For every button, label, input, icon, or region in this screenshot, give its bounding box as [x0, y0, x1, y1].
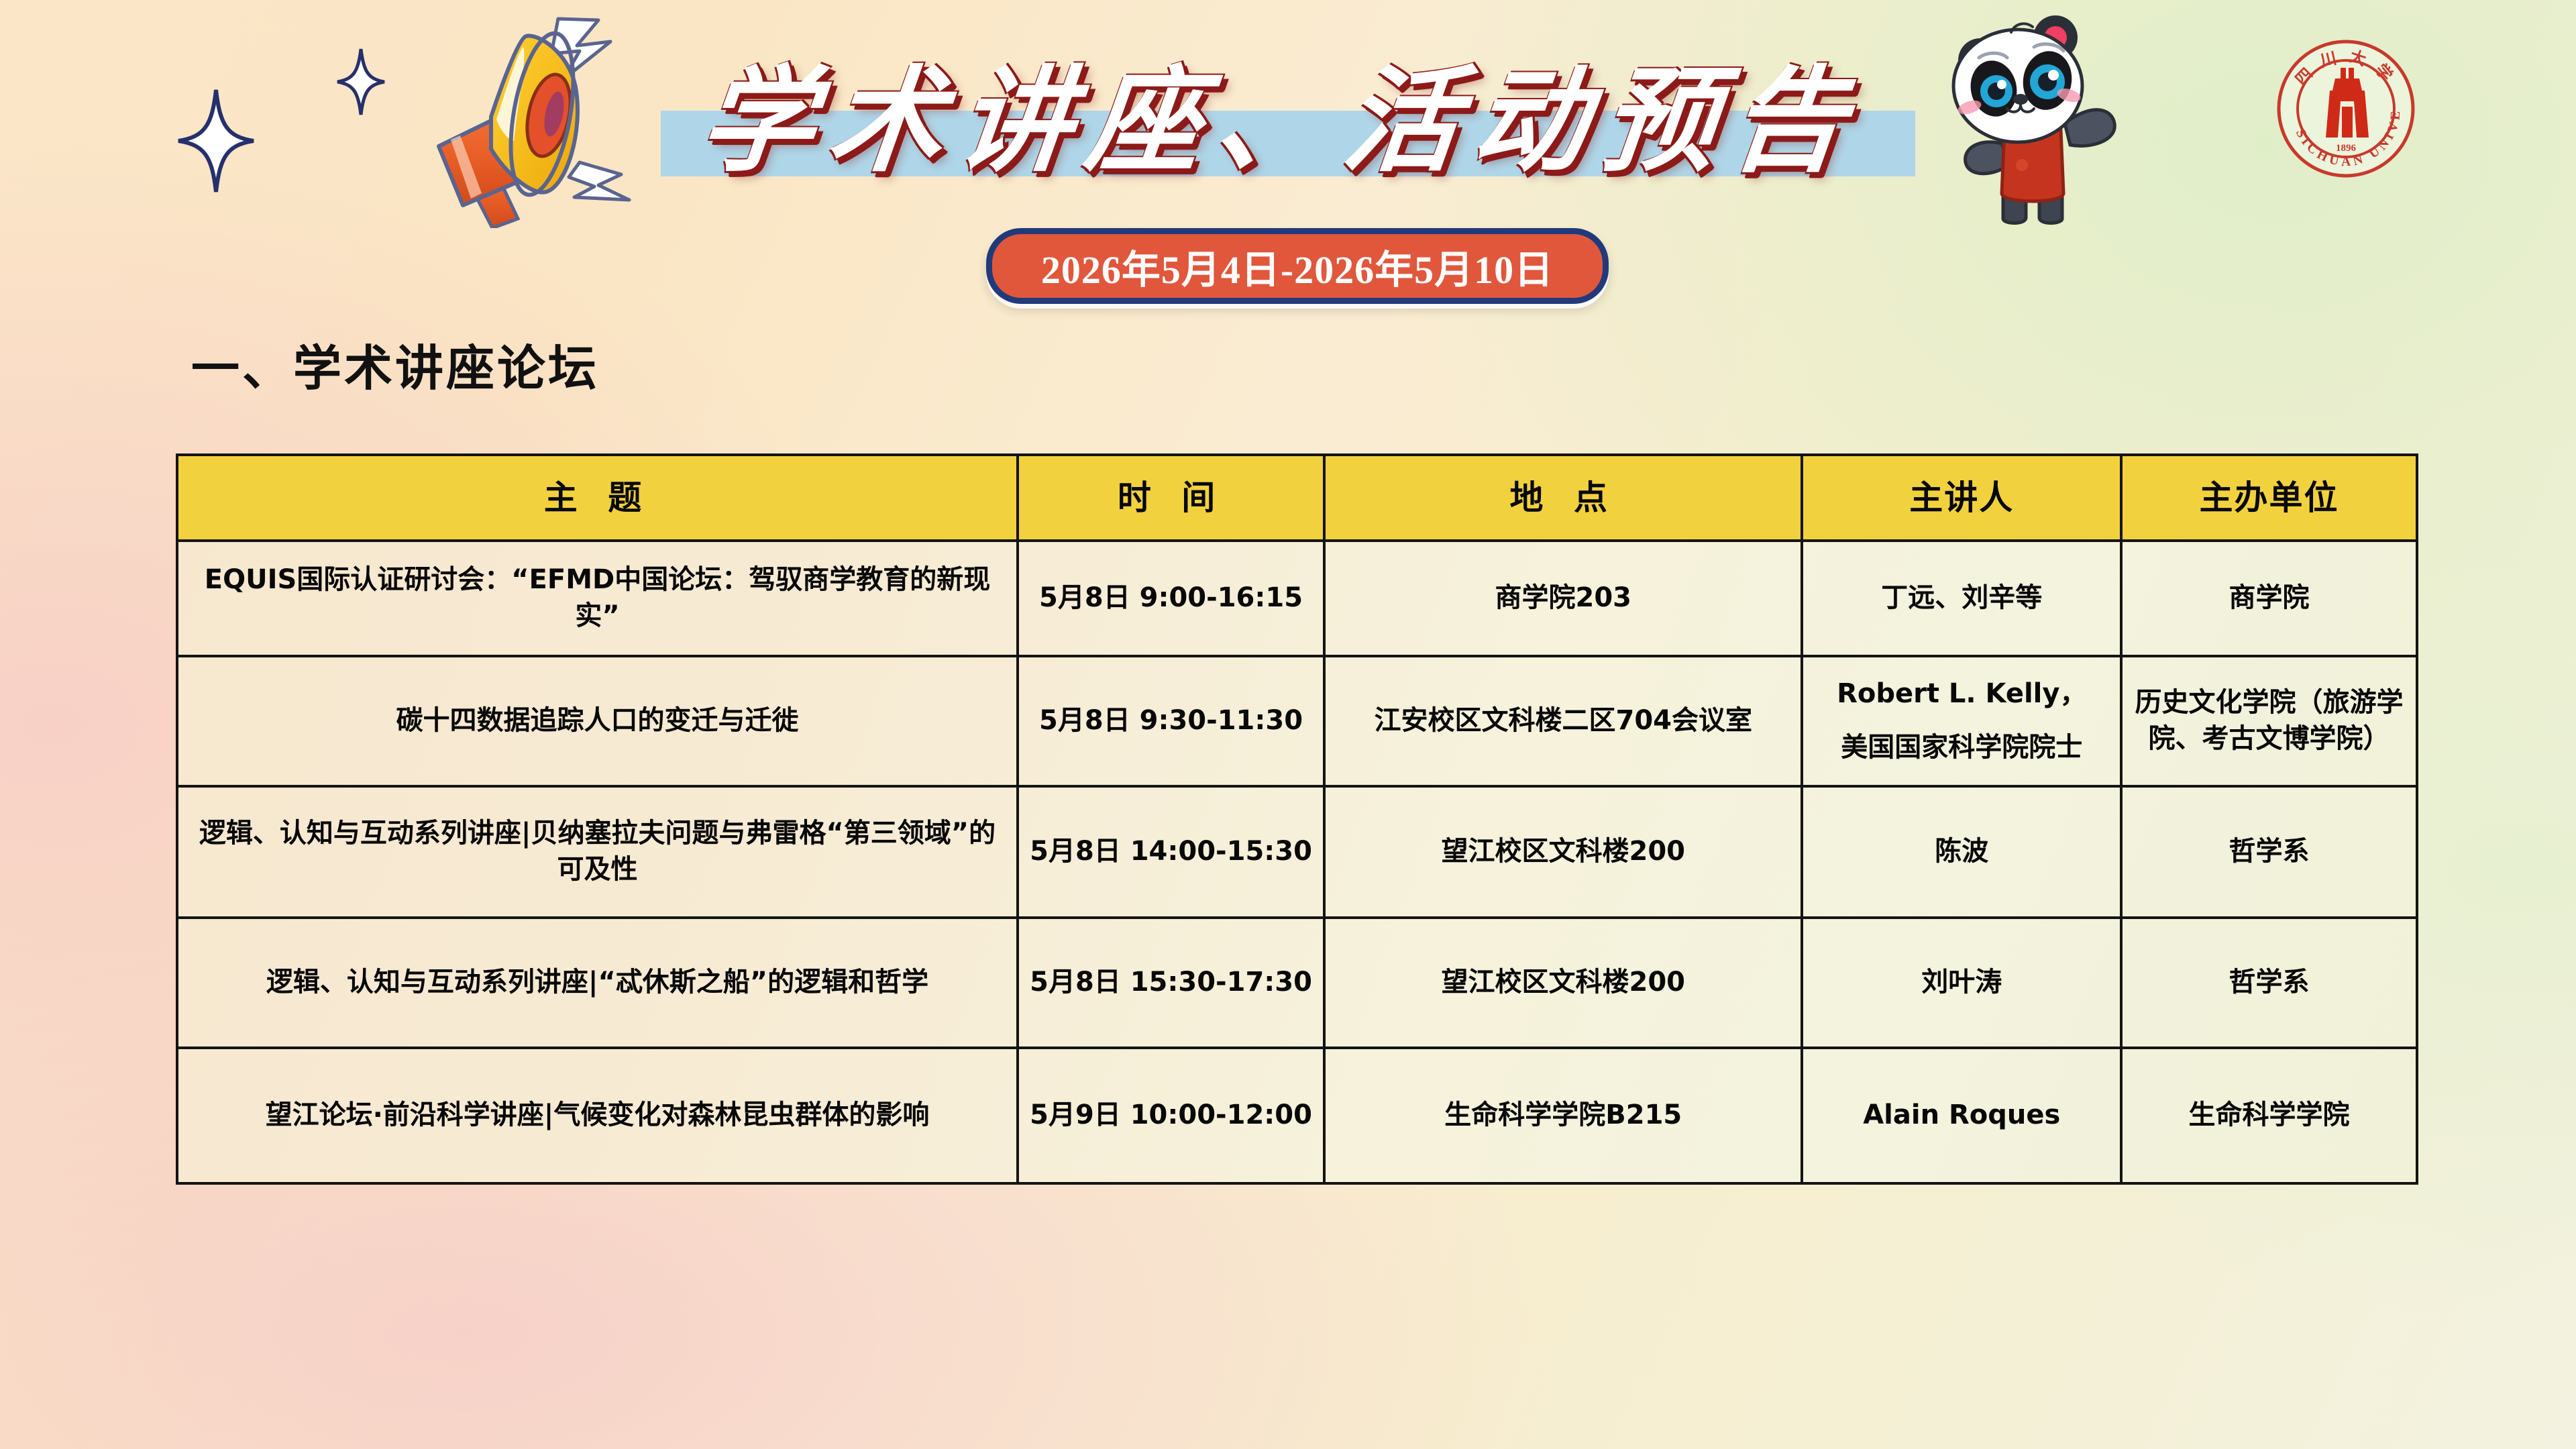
cell-org: 哲学系 — [2121, 786, 2417, 918]
section-heading: 一、学术讲座论坛 — [191, 329, 599, 399]
cell-speaker: Robert L. Kelly， 美国国家科学院院士 — [1802, 656, 2121, 786]
cell-time: 5月8日 15:30-17:30 — [1018, 918, 1324, 1048]
column-header-time: 时 间 — [1018, 455, 1324, 541]
cell-topic: EQUIS国际认证研讨会：“EFMD中国论坛：驾驭商学教育的新现实” — [177, 541, 1018, 656]
page-title: 学术讲座、活动预告 — [635, 27, 1927, 195]
column-header-org: 主办单位 — [2121, 455, 2417, 541]
column-header-place: 地 点 — [1324, 455, 1802, 541]
cell-org: 哲学系 — [2121, 918, 2417, 1048]
poster-title-block: 学术讲座、活动预告 — [644, 27, 1919, 195]
cell-topic: 逻辑、认知与互动系列讲座|“忒休斯之船”的逻辑和哲学 — [177, 918, 1018, 1048]
table-row: EQUIS国际认证研讨会：“EFMD中国论坛：驾驭商学教育的新现实” 5月8日 … — [177, 541, 2417, 656]
sichuan-university-logo: 1896 四川大学 SICHUAN UNIVERSITY — [2271, 37, 2422, 181]
cell-org: 生命科学学院 — [2121, 1048, 2417, 1183]
cell-speaker: Alain Roques — [1802, 1048, 2121, 1183]
logo-year: 1896 — [2336, 143, 2357, 154]
cell-time: 5月8日 14:00-15:30 — [1018, 786, 1324, 918]
cell-topic: 望江论坛·前沿科学讲座|气候变化对森林昆虫群体的影响 — [177, 1048, 1018, 1183]
megaphone-icon — [295, 7, 644, 228]
table-header-row: 主 题 时 间 地 点 主讲人 主办单位 — [177, 455, 2417, 541]
cell-place: 生命科学学院B215 — [1324, 1048, 1802, 1183]
column-header-speaker: 主讲人 — [1802, 455, 2121, 541]
sparkle-icon-large — [176, 87, 256, 195]
table-row: 逻辑、认知与互动系列讲座|“忒休斯之船”的逻辑和哲学 5月8日 15:30-17… — [177, 918, 2417, 1048]
cell-speaker: 刘叶涛 — [1802, 918, 2121, 1048]
cell-time: 5月8日 9:00-16:15 — [1018, 541, 1324, 656]
cell-speaker: 陈波 — [1802, 786, 2121, 918]
column-header-topic: 主 题 — [177, 455, 1018, 541]
cell-org: 历史文化学院（旅游学院、考古文博学院） — [2121, 656, 2417, 786]
cell-place: 望江校区文科楼200 — [1324, 918, 1802, 1048]
date-range-text: 2026年5月4日-2026年5月10日 — [1041, 238, 1554, 294]
cell-place: 江安校区文科楼二区704会议室 — [1324, 656, 1802, 786]
panda-mascot-icon — [1932, 5, 2133, 227]
cell-place: 商学院203 — [1324, 541, 1802, 656]
date-range-badge: 2026年5月4日-2026年5月10日 — [986, 228, 1609, 304]
cell-speaker: 丁远、刘辛等 — [1802, 541, 2121, 656]
cell-topic: 碳十四数据追踪人口的变迁与迁徙 — [177, 656, 1018, 786]
cell-speaker-line2: 美国国家科学院院士 — [1811, 730, 2112, 766]
cell-org: 商学院 — [2121, 541, 2417, 656]
table-row: 望江论坛·前沿科学讲座|气候变化对森林昆虫群体的影响 5月9日 10:00-12… — [177, 1048, 2417, 1183]
cell-place: 望江校区文科楼200 — [1324, 786, 1802, 918]
table-row: 碳十四数据追踪人口的变迁与迁徙 5月8日 9:30-11:30 江安校区文科楼二… — [177, 656, 2417, 786]
cell-topic: 逻辑、认知与互动系列讲座|贝纳塞拉夫问题与弗雷格“第三领域”的可及性 — [177, 786, 1018, 918]
schedule-table-wrapper: 主 题 时 间 地 点 主讲人 主办单位 EQUIS国际认证研讨会：“EFMD中… — [176, 453, 2418, 1185]
table-row: 逻辑、认知与互动系列讲座|贝纳塞拉夫问题与弗雷格“第三领域”的可及性 5月8日 … — [177, 786, 2417, 918]
cell-time: 5月8日 9:30-11:30 — [1018, 656, 1324, 786]
poster-header: 学术讲座、活动预告 — [0, 0, 2576, 315]
cell-time: 5月9日 10:00-12:00 — [1018, 1048, 1324, 1183]
schedule-table: 主 题 时 间 地 点 主讲人 主办单位 EQUIS国际认证研讨会：“EFMD中… — [176, 453, 2418, 1185]
cell-speaker-line1: Robert L. Kelly， — [1811, 676, 2112, 712]
